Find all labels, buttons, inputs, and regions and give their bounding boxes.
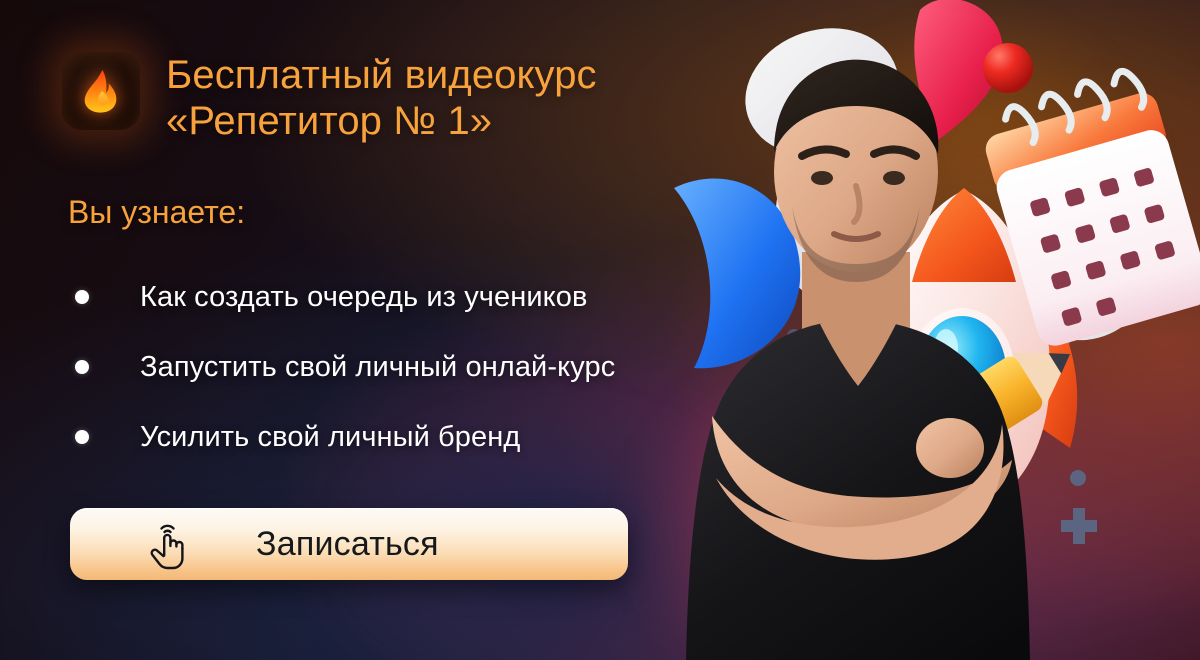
hand-tap-cursor-icon	[148, 518, 194, 570]
list-item: Запустить свой личный онлай-курс	[68, 332, 615, 402]
brand-header: Бесплатный видеокурс «Репетитор № 1»	[62, 52, 597, 144]
list-item: Как создать очередь из учеников	[68, 262, 615, 332]
list-item: Усилить свой личный бренд	[68, 402, 615, 472]
subheading: Вы узнаете:	[68, 193, 245, 231]
flame-icon	[62, 52, 140, 130]
bullet-dot-icon	[75, 360, 89, 374]
signup-button[interactable]: Записаться	[70, 508, 628, 580]
list-item-label: Запустить свой личный онлай-курс	[140, 353, 615, 382]
list-item-label: Как создать очередь из учеников	[140, 283, 588, 312]
promo-banner: Бесплатный видеокурс «Репетитор № 1» Вы …	[0, 0, 1200, 660]
bullet-dot-icon	[75, 290, 89, 304]
content-column: Бесплатный видеокурс «Репетитор № 1» Вы …	[0, 0, 740, 660]
list-item-label: Усилить свой личный бренд	[140, 423, 520, 452]
page-title: Бесплатный видеокурс «Репетитор № 1»	[166, 52, 597, 144]
signup-button-label: Записаться	[256, 527, 439, 561]
bullet-dot-icon	[75, 430, 89, 444]
benefits-list: Как создать очередь из учеников Запустит…	[68, 262, 615, 472]
